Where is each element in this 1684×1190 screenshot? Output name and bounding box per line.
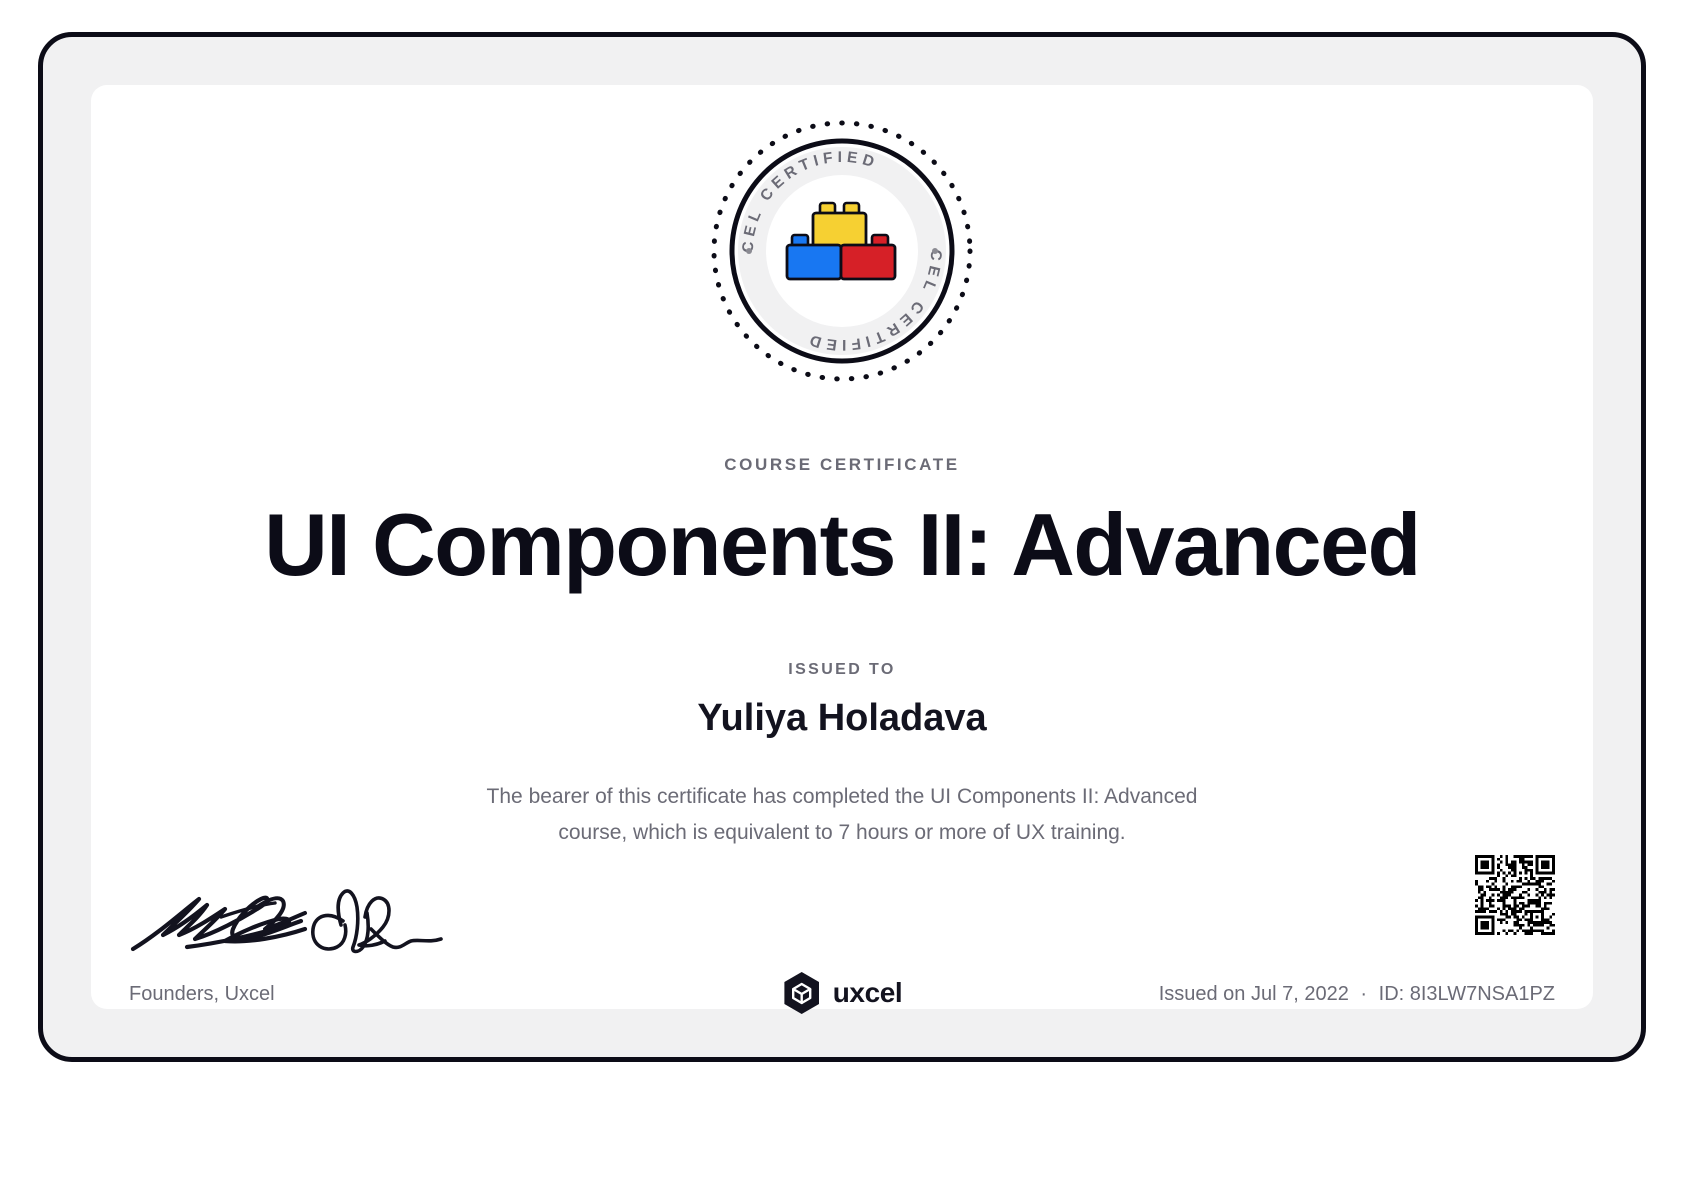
uxcel-wordmark: uxcel (833, 977, 903, 1009)
verification-qr-code[interactable] (1475, 855, 1555, 935)
certificate-frame: UXCEL CERTIFIED UXCEL CERTIFIED (38, 32, 1646, 1062)
uxcel-hexagon-icon (782, 971, 822, 1015)
certificate-type-label: COURSE CERTIFICATE (91, 455, 1593, 475)
meta-separator: · (1354, 983, 1373, 1005)
course-title: UI Components II: Advanced (91, 497, 1593, 593)
issue-metadata: Issued on Jul 7, 2022 · ID: 8I3LW7NSA1PZ (1159, 983, 1555, 1006)
issued-on-date: Issued on Jul 7, 2022 (1159, 983, 1349, 1005)
seal-bullet-left (746, 248, 752, 254)
founder-signatures (129, 855, 449, 955)
certificate-id: ID: 8I3LW7NSA1PZ (1379, 983, 1555, 1005)
uxcel-certified-seal: UXCEL CERTIFIED UXCEL CERTIFIED (708, 117, 976, 385)
certificate-card: UXCEL CERTIFIED UXCEL CERTIFIED (91, 85, 1593, 1009)
issued-to-label: ISSUED TO (91, 661, 1593, 679)
seal-bullet-right (932, 248, 938, 254)
signature-two (313, 891, 441, 952)
certificate-description: The bearer of this certificate has compl… (452, 779, 1232, 851)
founders-caption: Founders, Uxcel (129, 983, 275, 1006)
recipient-name: Yuliya Holadava (91, 697, 1593, 740)
signature-one (133, 898, 305, 949)
uxcel-brand-logo: uxcel (782, 971, 903, 1015)
